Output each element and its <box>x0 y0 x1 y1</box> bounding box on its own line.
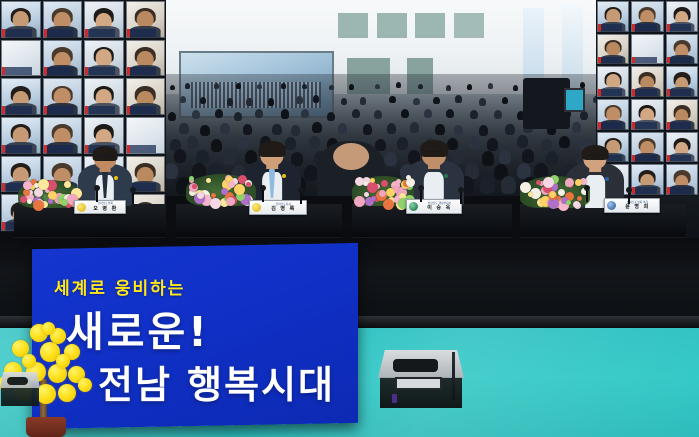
video-tile <box>43 40 83 77</box>
audience-head <box>341 98 348 105</box>
audience-head <box>455 95 462 102</box>
audience-head <box>185 83 190 89</box>
video-tile <box>597 34 629 65</box>
flower <box>371 196 376 201</box>
table-microphone <box>420 188 422 202</box>
audience-head <box>200 97 207 104</box>
flower <box>543 177 554 188</box>
video-tile-caption <box>632 122 656 129</box>
banner-line-1: 세계로 웅비하는 <box>54 274 185 299</box>
video-tile-caption <box>667 24 691 31</box>
video-tile-caption <box>85 106 115 114</box>
flower <box>354 196 365 207</box>
audience-head <box>214 83 219 89</box>
emblem-icon-seat-4 <box>607 201 616 210</box>
nameplate-seat-3: 전라남도 행정부지사 이 승 옥 <box>406 199 462 214</box>
video-tile-caption <box>44 67 74 75</box>
audience-head <box>196 150 209 164</box>
seated-official-1 <box>78 138 132 206</box>
audience-head <box>211 139 222 152</box>
video-tile <box>597 1 629 32</box>
video-tile-caption <box>2 29 32 37</box>
audience-head <box>479 125 489 136</box>
audience-head <box>446 109 454 118</box>
audience-head <box>179 123 189 134</box>
video-tile <box>666 132 698 163</box>
flower <box>189 176 194 181</box>
flower <box>528 192 533 197</box>
audience-head <box>396 82 401 88</box>
audience-head <box>418 84 423 90</box>
video-tile <box>631 66 663 97</box>
video-tile <box>631 132 663 163</box>
floral-arrangement-1 <box>18 176 80 208</box>
video-tile-caption <box>85 29 115 37</box>
video-tile <box>43 1 83 38</box>
audience-head <box>281 83 286 89</box>
nameplate-seat-1: 전라남도의회 오 병 환 <box>74 200 126 214</box>
table-microphone <box>96 188 98 202</box>
audience-head <box>363 124 373 135</box>
lapel-badge-icon <box>444 174 448 178</box>
table-microphone <box>586 188 588 202</box>
audience-head <box>166 163 178 179</box>
video-tile-caption <box>632 155 656 162</box>
audience-head <box>338 123 348 134</box>
audience-head <box>281 109 289 118</box>
audience-head <box>513 85 518 91</box>
audience-head <box>180 96 187 103</box>
chrysanthemum-bloom <box>56 354 70 368</box>
audience-head <box>499 150 512 164</box>
banner-line-3: 전남 행복시대 <box>98 354 335 409</box>
video-tile-caption <box>127 29 157 37</box>
video-tile <box>1 40 41 77</box>
video-tile-caption <box>667 89 691 96</box>
audience-head <box>236 83 241 89</box>
audience-head <box>517 135 528 148</box>
audience-head <box>296 96 303 103</box>
video-tile <box>631 34 663 65</box>
video-tile <box>631 99 663 130</box>
flower <box>548 198 559 209</box>
floral-arrangement-4 <box>520 172 590 208</box>
lapel-badge-icon <box>605 177 609 181</box>
video-tile <box>43 117 83 154</box>
audience-head <box>257 84 262 90</box>
audience-head <box>312 122 322 133</box>
emblem-icon-seat-1 <box>77 203 86 212</box>
nameplate-name-4: 윤 명 희 <box>618 204 657 210</box>
chrysanthemum-bloom <box>22 354 36 368</box>
audience-head <box>255 109 263 118</box>
video-tile <box>84 78 124 115</box>
audience-head <box>488 83 493 89</box>
video-tile <box>84 1 124 38</box>
flower <box>246 182 251 187</box>
audience-head <box>301 109 309 118</box>
flower <box>206 178 211 183</box>
audience-head <box>467 84 472 90</box>
flower <box>558 189 565 196</box>
eyeglasses-icon <box>97 156 113 160</box>
table-microphone <box>132 190 134 204</box>
flower <box>575 179 582 186</box>
video-tile <box>43 78 83 115</box>
video-tile-caption <box>44 145 74 153</box>
floral-arrangement-3 <box>352 172 414 206</box>
audience-head <box>572 122 582 133</box>
audience-head <box>168 112 176 121</box>
video-tile-caption <box>2 106 32 114</box>
video-tile-caption <box>667 122 691 129</box>
video-tile-caption <box>667 57 691 64</box>
flower <box>355 177 364 186</box>
video-tile <box>666 164 698 195</box>
audience-head <box>389 96 396 103</box>
video-tile-caption <box>598 122 622 129</box>
table-microphone <box>300 190 302 204</box>
video-tile <box>597 99 629 130</box>
audience-head <box>433 97 440 104</box>
audience-head <box>302 84 307 90</box>
official-hair <box>259 141 286 157</box>
bonsai-pot <box>26 417 66 437</box>
audience-head <box>546 151 559 165</box>
audience-head <box>220 123 230 134</box>
nameplate-name-3: 이 승 옥 <box>420 205 459 211</box>
video-tile <box>84 40 124 77</box>
video-tile <box>126 40 166 77</box>
audience-head <box>309 136 320 149</box>
audience-head <box>424 109 432 118</box>
nameplate-seat-2: 전라남도지사 김 영 록 <box>249 200 307 215</box>
flower <box>192 184 197 189</box>
emblem-icon-seat-3 <box>409 202 418 211</box>
audience-head <box>541 139 552 152</box>
audience-head <box>313 95 320 102</box>
video-tile-caption <box>667 187 691 194</box>
lapel-badge-icon <box>282 174 286 178</box>
chrysanthemum-bloom <box>42 322 55 335</box>
video-tile <box>1 117 41 154</box>
audience-head <box>387 123 397 134</box>
eyeglasses-icon <box>425 151 443 156</box>
flower <box>367 182 378 193</box>
table-microphone <box>460 190 462 204</box>
video-tile <box>126 1 166 38</box>
video-tile <box>631 164 663 195</box>
audience-head <box>446 85 451 91</box>
video-tile <box>666 99 698 130</box>
video-tile <box>597 66 629 97</box>
audience-head <box>522 149 535 163</box>
video-tile <box>126 78 166 115</box>
table-microphone <box>262 188 264 202</box>
video-tile-caption <box>127 67 157 75</box>
audience-head <box>268 98 275 105</box>
audience-head <box>246 98 253 105</box>
video-tile-caption <box>598 24 622 31</box>
nameplate-seat-4: 전라남도의회 의장 윤 명 희 <box>604 198 660 213</box>
flower <box>406 175 411 180</box>
eyeglasses-icon <box>586 155 603 160</box>
screen-broadcast-camera <box>523 78 570 129</box>
table-segment-4 <box>520 204 686 238</box>
table-microphone <box>628 190 630 204</box>
audience-head <box>487 138 498 151</box>
main-led-screen <box>166 0 596 196</box>
video-tile-caption <box>632 24 656 31</box>
flower <box>379 190 386 197</box>
video-tile-caption <box>44 106 74 114</box>
audience-head <box>482 151 495 165</box>
audience-head <box>329 85 334 91</box>
video-tile <box>666 34 698 65</box>
audience-head <box>187 136 198 149</box>
audience-head <box>349 84 354 90</box>
audience-head <box>470 110 478 119</box>
audience-head <box>352 109 360 118</box>
audience-head <box>223 150 236 164</box>
video-tile-caption <box>2 145 32 153</box>
chrysanthemum-bloom <box>78 378 92 392</box>
flower <box>228 181 235 188</box>
video-tile-caption <box>667 155 691 162</box>
video-tile-caption <box>127 106 157 114</box>
video-tile <box>631 1 663 32</box>
flower <box>565 178 574 187</box>
audience-head <box>413 98 420 105</box>
audience-head <box>200 125 210 136</box>
audience-head <box>215 109 223 118</box>
audience-head <box>494 110 502 119</box>
audience-head <box>174 149 187 163</box>
video-tile-caption <box>598 57 622 64</box>
flower <box>221 188 228 195</box>
audience-head <box>501 176 517 194</box>
audience-head <box>304 165 318 181</box>
video-tile <box>666 1 698 32</box>
audience-head <box>375 84 380 90</box>
video-tile-caption <box>85 67 115 75</box>
audience-head <box>227 98 234 105</box>
video-tile <box>1 78 41 115</box>
audience-head <box>170 85 175 91</box>
lapel-badge-icon <box>114 176 118 180</box>
audience-head <box>384 152 397 166</box>
audience-head <box>479 98 486 105</box>
audience-head <box>401 109 409 118</box>
video-tile-caption <box>2 67 32 75</box>
video-tile <box>1 1 41 38</box>
flower <box>386 188 395 197</box>
video-tile-caption <box>44 29 74 37</box>
audience-head <box>374 110 382 119</box>
audience-head <box>502 97 509 104</box>
audience-head <box>327 112 335 121</box>
nameplate-name-2: 김 영 록 <box>263 206 304 212</box>
flower <box>536 180 541 185</box>
floral-arrangement-2 <box>186 170 256 206</box>
video-tile-caption <box>632 57 656 64</box>
flower <box>396 179 401 184</box>
audience-head <box>360 97 367 104</box>
video-tile-caption <box>598 89 622 96</box>
audience-head <box>505 124 515 135</box>
stage-monitor-speaker-2 <box>0 372 40 406</box>
audience-head <box>192 110 200 119</box>
video-tile <box>666 66 698 97</box>
screenshot-root: 전라남도의회 오 병 환 전라남도지사 김 영 록 전라남도 행정부지사 이 승… <box>0 0 699 437</box>
emblem-icon-seat-2 <box>252 203 261 212</box>
audience-head <box>480 176 496 194</box>
flower <box>226 197 235 206</box>
chrysanthemum-bloom <box>58 384 76 402</box>
audience-head <box>234 112 242 121</box>
flower <box>566 200 571 205</box>
microphone-stand <box>452 352 455 400</box>
video-tile-caption <box>632 187 656 194</box>
video-tile-caption <box>632 89 656 96</box>
nameplate-name-1: 오 병 환 <box>88 206 123 212</box>
audience-head <box>469 136 480 149</box>
